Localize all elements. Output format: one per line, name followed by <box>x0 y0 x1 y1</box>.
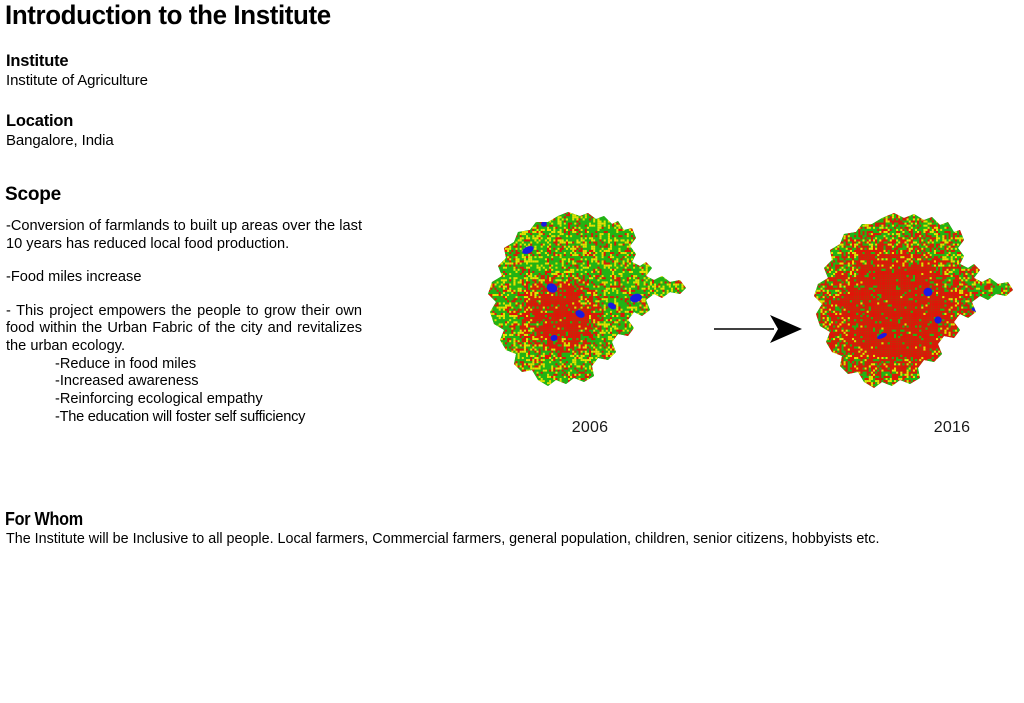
list-item: -Reinforcing ecological empathy <box>55 391 362 409</box>
scope-sub-points: -Reduce in food miles -Increased awarene… <box>6 356 362 427</box>
for-whom-body: The Institute will be Inclusive to all p… <box>6 530 904 548</box>
list-item: -The education will foster self sufficie… <box>55 409 362 427</box>
list-item: -Increased awareness <box>55 373 362 391</box>
for-whom-heading: For Whom <box>5 508 83 530</box>
location-field-label: Location <box>6 110 110 131</box>
map-figure-2006: 2006 <box>484 210 688 460</box>
right-arrow-icon <box>712 309 804 349</box>
map-year-label-2016: 2016 <box>850 418 1024 438</box>
map-year-label-2006: 2006 <box>488 418 692 438</box>
location-field: Location Bangalore, India <box>6 110 114 150</box>
institute-field: Institute Institute of Agriculture <box>6 50 148 90</box>
scope-heading: Scope <box>5 183 61 207</box>
land-use-comparison-figure: 2006 2016 <box>470 210 1024 460</box>
scope-paragraph: - This project empowers the people to gr… <box>6 303 362 356</box>
scope-paragraph: -Conversion of farmlands to built up are… <box>6 218 362 253</box>
land-use-map-icon <box>484 210 688 415</box>
list-item: -Reduce in food miles <box>55 356 362 374</box>
map-figure-2016: 2016 <box>810 210 1014 460</box>
location-field-value: Bangalore, India <box>6 131 114 150</box>
land-use-map-icon <box>810 210 1014 415</box>
institute-field-value: Institute of Agriculture <box>6 71 148 90</box>
scope-body: -Conversion of farmlands to built up are… <box>6 218 362 427</box>
page-title: Introduction to the Institute <box>5 0 331 32</box>
institute-field-label: Institute <box>6 50 144 71</box>
scope-paragraph: -Food miles increase <box>6 269 362 287</box>
